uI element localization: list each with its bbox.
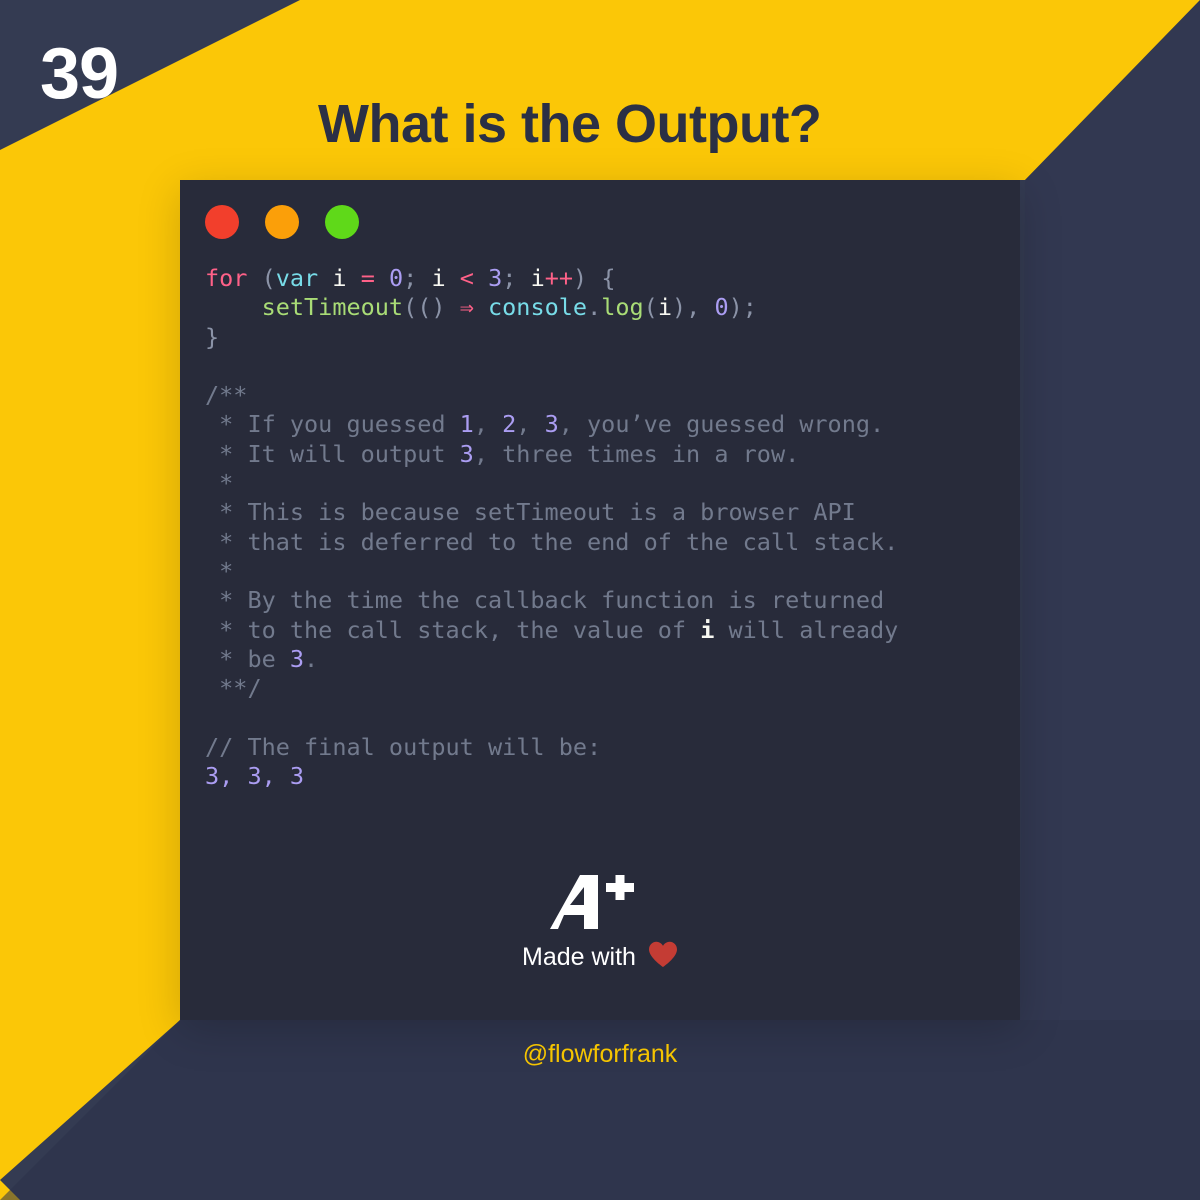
- comment-close: **/: [205, 674, 262, 702]
- code-block[interactable]: for (var i = 0; i < 3; i++) { setTimeout…: [205, 264, 1002, 791]
- code-line-blank: [205, 703, 1002, 732]
- code-line: // The final output will be:: [205, 733, 1002, 762]
- token-space: [375, 264, 389, 292]
- comment-text: ,: [474, 410, 502, 438]
- comment-open: /**: [205, 381, 247, 409]
- comment-text: ,: [516, 410, 544, 438]
- comment-number: 3: [545, 410, 559, 438]
- token-punct: (: [644, 293, 658, 321]
- heart-icon: [648, 941, 678, 973]
- token-space: [700, 293, 714, 321]
- comment-text: * This is because setTimeout is a browse…: [205, 498, 856, 526]
- token-space: [446, 264, 460, 292]
- token-space: [347, 264, 361, 292]
- maximize-button-icon[interactable]: [325, 205, 359, 239]
- token-punct: (: [403, 293, 417, 321]
- minimize-button-icon[interactable]: [265, 205, 299, 239]
- code-line-blank: [205, 352, 1002, 381]
- token-punct: (: [262, 264, 276, 292]
- token-operator: =: [361, 264, 375, 292]
- token-operator: <: [460, 264, 474, 292]
- token-function: setTimeout: [262, 293, 403, 321]
- code-line: * It will output 3, three times in a row…: [205, 440, 1002, 469]
- token-punct: {: [601, 264, 615, 292]
- comment-text: * that is deferred to the end of the cal…: [205, 528, 898, 556]
- token-punct: ,: [686, 293, 700, 321]
- token-number: 3: [488, 264, 502, 292]
- comment-text: * If you guessed: [205, 410, 460, 438]
- comment-number: 3: [290, 645, 304, 673]
- author-handle[interactable]: @flowforfrank: [0, 1040, 1200, 1069]
- output-number: 3: [247, 762, 261, 790]
- token-identifier: i: [658, 293, 672, 321]
- comment-text: *: [205, 469, 233, 497]
- comment-text: * be: [205, 645, 290, 673]
- code-line: * that is deferred to the end of the cal…: [205, 528, 1002, 557]
- code-line: *: [205, 469, 1002, 498]
- comment-text: , you’ve guessed wrong.: [559, 410, 884, 438]
- comment-text: .: [304, 645, 318, 673]
- code-line: *: [205, 557, 1002, 586]
- token-operator: ++: [545, 264, 573, 292]
- comment-text: * to the call stack, the value of: [205, 616, 700, 644]
- comment-text: * By the time the callback function is r…: [205, 586, 884, 614]
- token-punct: (: [417, 293, 431, 321]
- token-space: [417, 264, 431, 292]
- code-line: 3, 3, 3: [205, 762, 1002, 791]
- code-line: }: [205, 323, 1002, 352]
- comment-text: *: [205, 557, 233, 585]
- token-property: log: [601, 293, 643, 321]
- token-number: 0: [714, 293, 728, 321]
- brand-tagline-text: Made with: [522, 943, 636, 972]
- code-line: * be 3.: [205, 645, 1002, 674]
- token-punct: ): [729, 293, 743, 321]
- token-punct: ): [672, 293, 686, 321]
- code-line: * This is because setTimeout is a browse…: [205, 498, 1002, 527]
- code-line: setTimeout(() ⇒ console.log(i), 0);: [205, 293, 1002, 322]
- output-number: 3: [290, 762, 304, 790]
- token-space: [474, 264, 488, 292]
- close-button-icon[interactable]: [205, 205, 239, 239]
- token-space: [516, 264, 530, 292]
- code-line: * By the time the callback function is r…: [205, 586, 1002, 615]
- arrow-icon: ⇒: [460, 293, 474, 321]
- comment-variable: i: [700, 616, 714, 644]
- comment-text: * It will output: [205, 440, 460, 468]
- comment-number: 3: [460, 440, 474, 468]
- comment-text: // The final output will be:: [205, 733, 601, 761]
- token-punct: ;: [403, 264, 417, 292]
- token-punct: ): [431, 293, 445, 321]
- code-line: /**: [205, 381, 1002, 410]
- code-line: for (var i = 0; i < 3; i++) {: [205, 264, 1002, 293]
- token-space: [587, 264, 601, 292]
- poster-canvas: 39 What is the Output? for (var i = 0; i…: [0, 0, 1200, 1200]
- token-punct: ;: [743, 293, 757, 321]
- code-line: **/: [205, 674, 1002, 703]
- output-sep: ,: [219, 762, 247, 790]
- token-space: [247, 264, 261, 292]
- window-controls: [205, 205, 359, 239]
- brand-tagline: Made with: [180, 941, 1020, 973]
- output-number: 3: [205, 762, 219, 790]
- token-punct: .: [587, 293, 601, 321]
- token-space: [446, 293, 460, 321]
- output-sep: ,: [262, 762, 290, 790]
- comment-number: 1: [460, 410, 474, 438]
- code-line: * If you guessed 1, 2, 3, you’ve guessed…: [205, 410, 1002, 439]
- comment-text: will already: [714, 616, 898, 644]
- token-punct: }: [205, 323, 219, 351]
- comment-text: , three times in a row.: [474, 440, 799, 468]
- heart-glyph: [648, 941, 678, 968]
- code-line: * to the call stack, the value of i will…: [205, 616, 1002, 645]
- token-keyword-var: var: [276, 264, 318, 292]
- brand-lockup: Made with: [180, 875, 1020, 973]
- token-number: 0: [389, 264, 403, 292]
- a-plus-logo-icon: [550, 875, 650, 929]
- token-punct: ): [573, 264, 587, 292]
- token-keyword: for: [205, 264, 247, 292]
- token-identifier: i: [332, 264, 346, 292]
- page-title: What is the Output?: [318, 96, 821, 153]
- comment-number: 2: [502, 410, 516, 438]
- code-window: for (var i = 0; i < 3; i++) { setTimeout…: [180, 180, 1020, 1020]
- token-punct: ;: [502, 264, 516, 292]
- token-space: [474, 293, 488, 321]
- token-object: console: [488, 293, 587, 321]
- token-identifier: i: [431, 264, 445, 292]
- token-identifier: i: [531, 264, 545, 292]
- issue-number-badge: 39: [40, 38, 118, 110]
- token-space: [318, 264, 332, 292]
